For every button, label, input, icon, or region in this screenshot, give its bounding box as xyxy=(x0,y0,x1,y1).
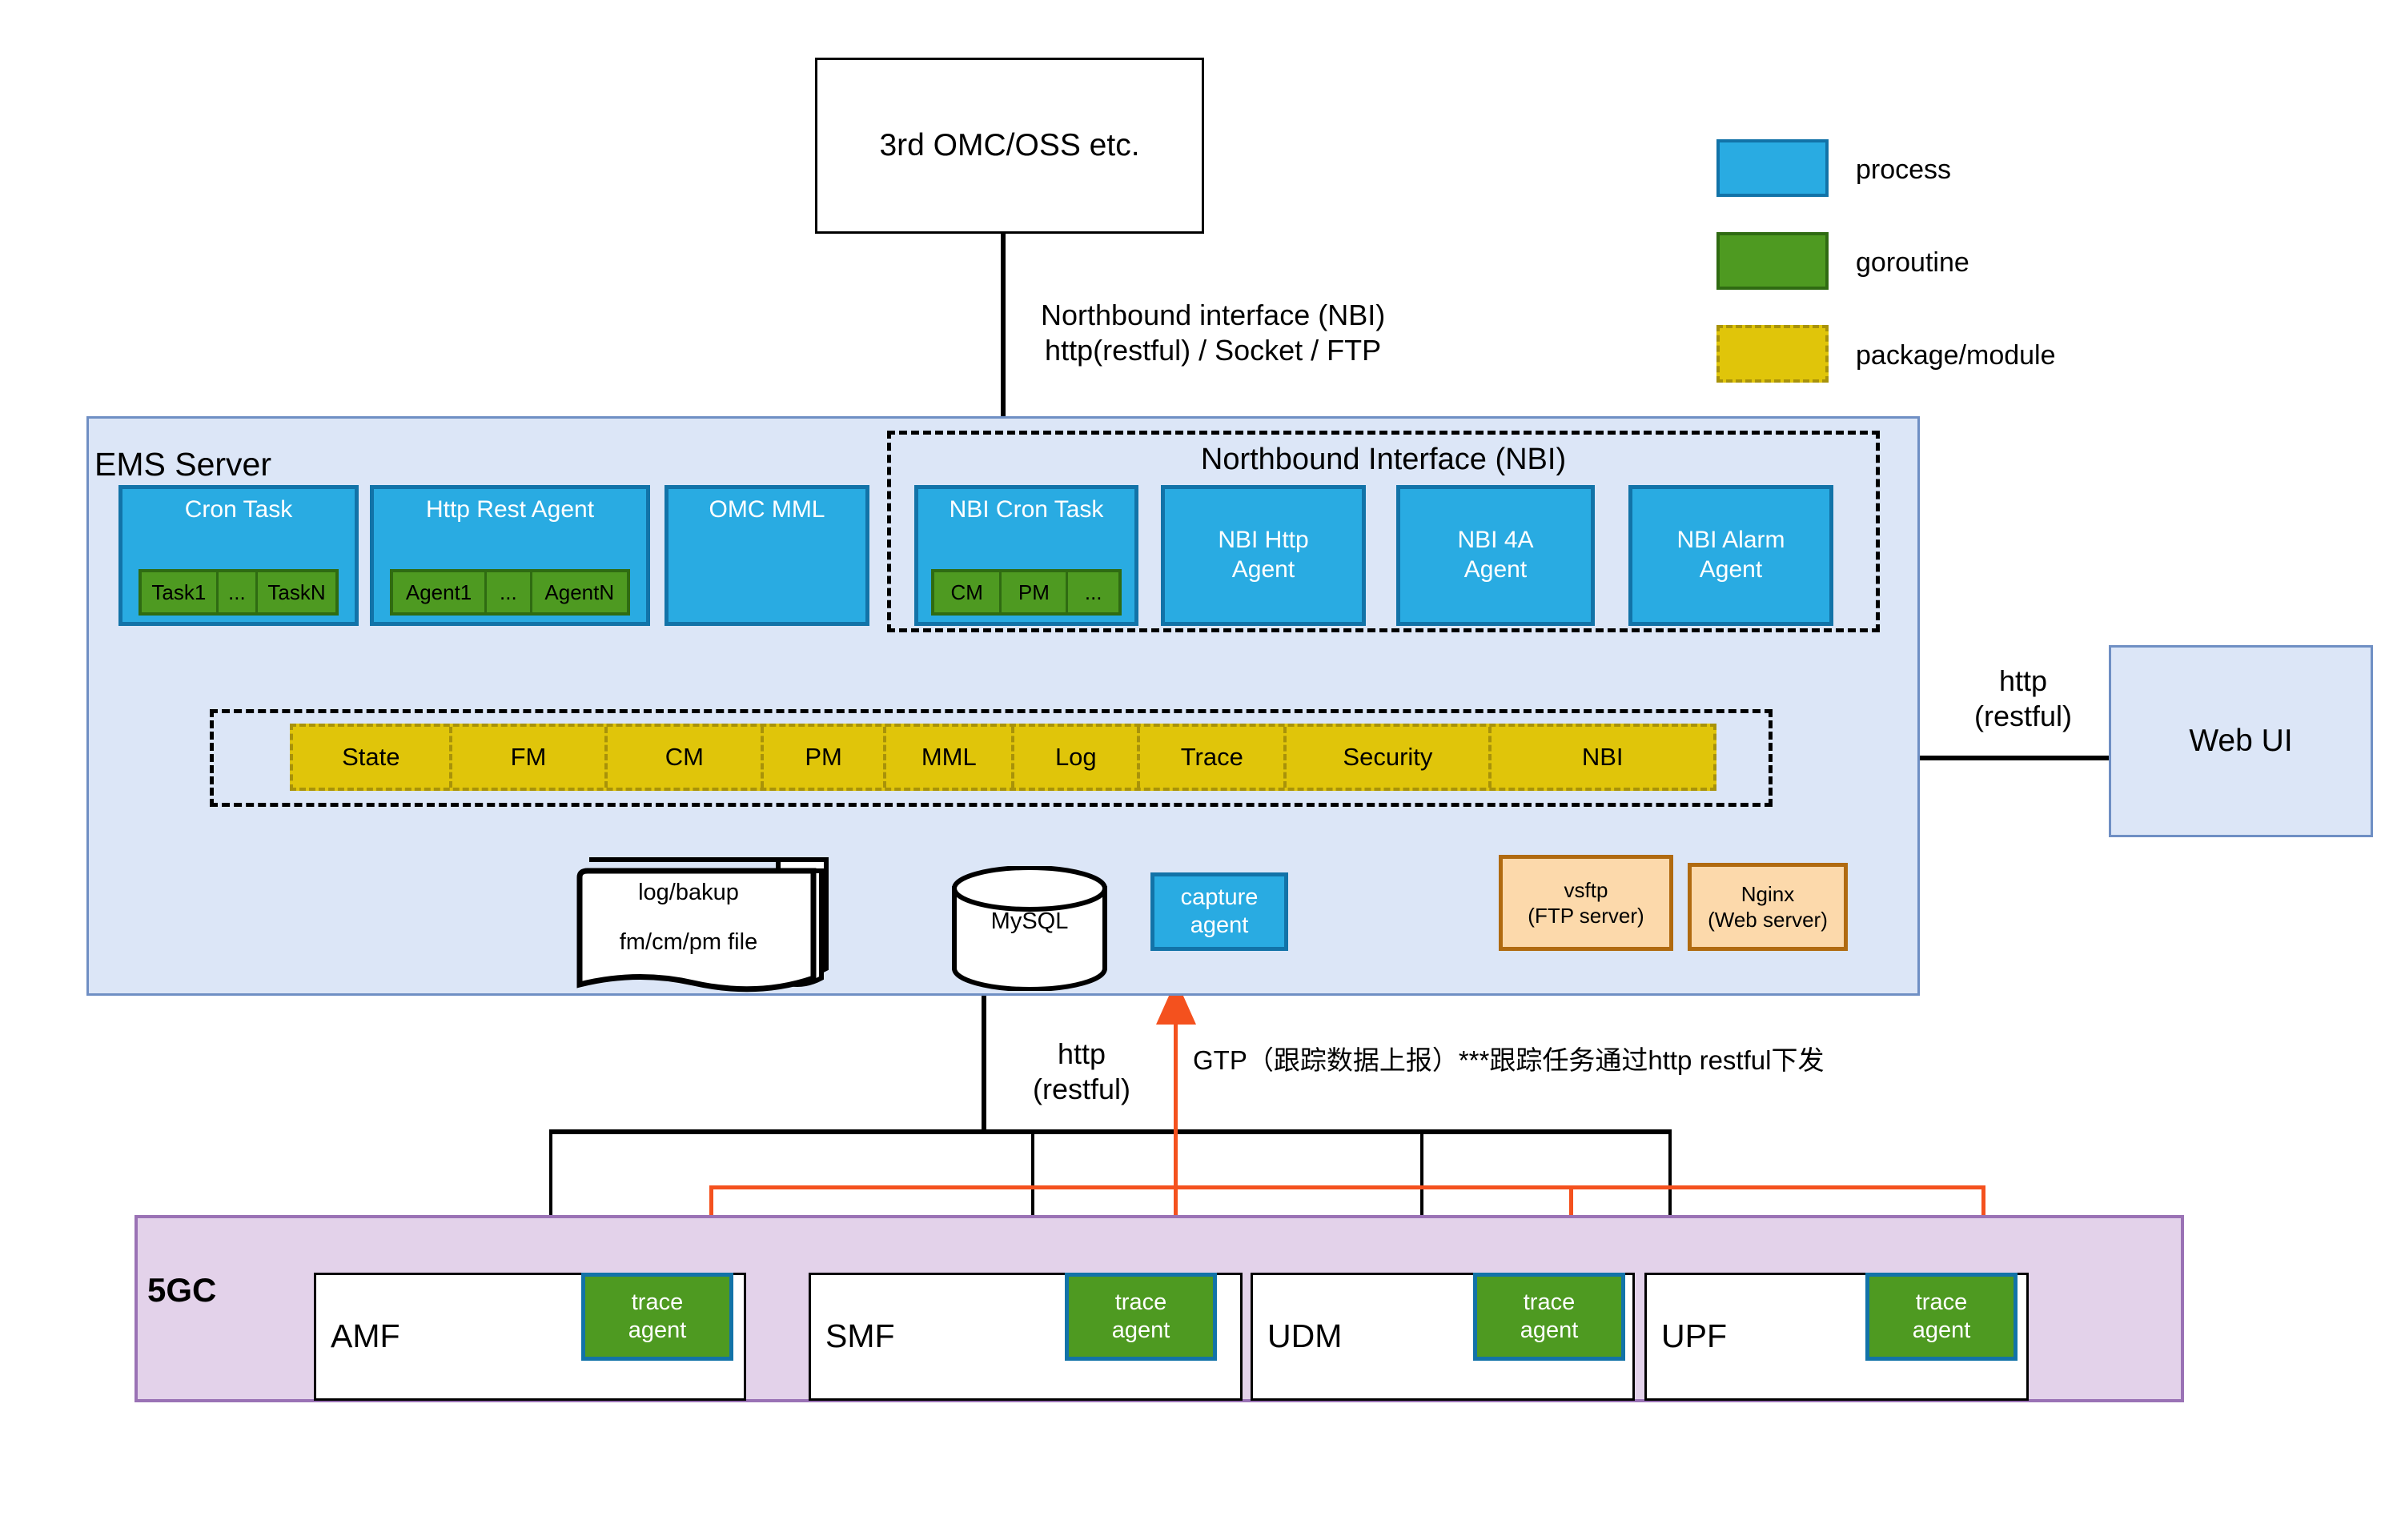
goroutine-group-cron-task: Task1 ... TaskN xyxy=(139,569,339,616)
trace-bus-horizontal xyxy=(709,1185,1985,1189)
legend-swatch-package-module xyxy=(1716,325,1829,383)
goroutine-cell: PM xyxy=(1002,572,1068,612)
goroutine-cell: AgentN xyxy=(532,572,627,612)
legend-label-package-module: package/module xyxy=(1856,331,2056,379)
nf-label-amf: AMF xyxy=(331,1312,475,1360)
web-ui-link-label: http (restful) xyxy=(1936,655,2110,743)
trace-agent-smf[interactable]: trace agent xyxy=(1065,1273,1217,1361)
file-store-label-line2: fm/cm/pm file xyxy=(581,927,796,959)
process-nbi-http-agent-label: NBI Http Agent xyxy=(1165,489,1362,622)
third-party-omc-label: 3rd OMC/OSS etc. xyxy=(817,60,1202,231)
process-cron-task-label: Cron Task xyxy=(122,495,355,523)
process-http-rest-agent-label: Http Rest Agent xyxy=(374,495,646,523)
diagram-canvas: 3rd OMC/OSS etc. Northbound interface (N… xyxy=(0,0,2405,1540)
trace-agent-udm[interactable]: trace agent xyxy=(1473,1273,1625,1361)
goroutine-cell: ... xyxy=(487,572,532,612)
legend-swatch-process xyxy=(1716,139,1829,197)
nf-label-udm: UDM xyxy=(1267,1312,1427,1360)
process-nbi-cron-task-label: NBI Cron Task xyxy=(918,495,1134,523)
gc-title: 5GC xyxy=(147,1268,267,1313)
nbi-group-title: Northbound Interface (NBI) xyxy=(887,439,1880,480)
gtp-annotation-label: GTP（跟踪数据上报）***跟踪任务通过http restful下发 xyxy=(1193,1037,2042,1084)
module-log[interactable]: Log xyxy=(1014,727,1140,788)
legend-label-process: process xyxy=(1856,146,1951,194)
process-omc-mml[interactable]: OMC MML xyxy=(664,485,869,626)
file-store-label-line1: log/bakup xyxy=(592,877,785,909)
third-party-omc-box[interactable]: 3rd OMC/OSS etc. xyxy=(815,58,1204,234)
service-vsftp[interactable]: vsftp (FTP server) xyxy=(1499,855,1673,951)
web-ui-box[interactable]: Web UI xyxy=(2109,645,2373,837)
process-nbi-cron-task[interactable]: NBI Cron Task CM PM ... xyxy=(914,485,1138,626)
process-capture-agent-label: capture agent xyxy=(1154,876,1284,947)
goroutine-cell: Agent1 xyxy=(393,572,487,612)
process-omc-mml-label: OMC MML xyxy=(669,495,865,523)
process-cron-task[interactable]: Cron Task Task1 ... TaskN xyxy=(118,485,359,626)
module-state[interactable]: State xyxy=(293,727,452,788)
process-capture-agent[interactable]: capture agent xyxy=(1150,872,1288,951)
process-nbi-alarm-agent[interactable]: NBI Alarm Agent xyxy=(1628,485,1833,626)
goroutine-cell: ... xyxy=(1068,572,1118,612)
service-nginx[interactable]: Nginx (Web server) xyxy=(1688,863,1848,951)
south-http-label: http (restful) xyxy=(998,1028,1166,1116)
goroutine-cell: CM xyxy=(934,572,1002,612)
module-cm[interactable]: CM xyxy=(608,727,764,788)
nf-label-smf: SMF xyxy=(825,1312,970,1360)
process-nbi-alarm-agent-label: NBI Alarm Agent xyxy=(1632,489,1829,622)
process-http-rest-agent[interactable]: Http Rest Agent Agent1 ... AgentN xyxy=(370,485,650,626)
trace-agent-amf[interactable]: trace agent xyxy=(581,1273,733,1361)
module-mml[interactable]: MML xyxy=(886,727,1014,788)
trace-riser-capture xyxy=(1174,988,1178,1188)
web-ui-label: Web UI xyxy=(2111,648,2371,835)
module-trace[interactable]: Trace xyxy=(1140,727,1287,788)
goroutine-group-nbi-cron-task: CM PM ... xyxy=(931,569,1122,616)
goroutine-cell: ... xyxy=(219,572,258,612)
database-label: MySQL xyxy=(950,904,1110,940)
legend-label-goroutine: goroutine xyxy=(1856,239,1969,287)
module-fm[interactable]: FM xyxy=(452,727,608,788)
module-security[interactable]: Security xyxy=(1287,727,1492,788)
module-pm[interactable]: PM xyxy=(764,727,886,788)
connector-ems-down xyxy=(982,994,986,1132)
goroutine-group-http-rest-agent: Agent1 ... AgentN xyxy=(390,569,630,616)
process-nbi-http-agent[interactable]: NBI Http Agent xyxy=(1161,485,1366,626)
goroutine-cell: TaskN xyxy=(258,572,335,612)
process-nbi-4a-agent-label: NBI 4A Agent xyxy=(1400,489,1591,622)
module-bar: State FM CM PM MML Log Trace Security NB… xyxy=(290,724,1716,791)
ems-server-title: EMS Server xyxy=(94,442,359,487)
trace-agent-upf[interactable]: trace agent xyxy=(1865,1273,2018,1361)
process-nbi-4a-agent[interactable]: NBI 4A Agent xyxy=(1396,485,1595,626)
nbi-link-label: Northbound interface (NBI) http(restful)… xyxy=(1041,291,1553,375)
legend-swatch-goroutine xyxy=(1716,232,1829,290)
connector-omc-to-ems xyxy=(1001,232,1006,419)
connector-ems-to-webui xyxy=(1920,756,2110,760)
goroutine-cell: Task1 xyxy=(142,572,219,612)
nf-label-upf: UPF xyxy=(1661,1312,1821,1360)
module-nbi[interactable]: NBI xyxy=(1492,727,1713,788)
bus-5gc-horizontal xyxy=(549,1129,1672,1134)
